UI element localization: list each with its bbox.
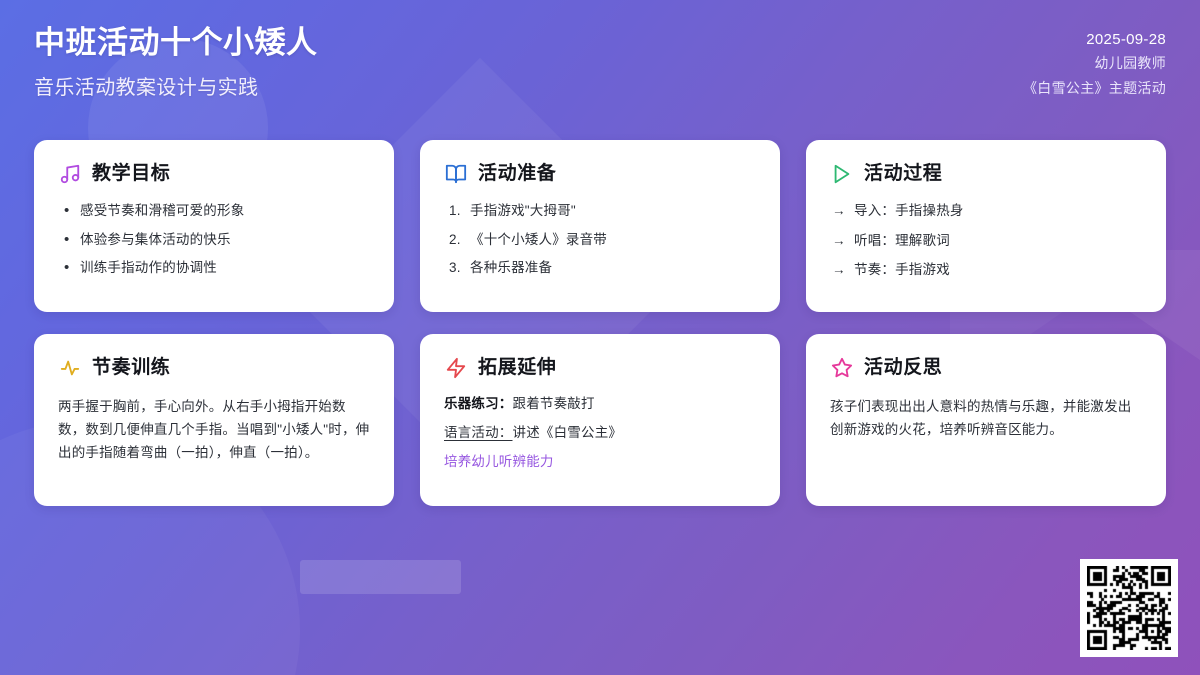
open-book-icon [444,162,467,185]
card-header: 拓展延伸 [444,356,756,379]
placeholder-bar [300,560,461,594]
card-title: 教学目标 [92,164,170,183]
title-block: 中班活动十个小矮人 音乐活动教案设计与实践 [34,24,318,100]
card-header: 教学目标 [58,162,370,185]
card-header: 活动准备 [444,162,756,185]
list-item: 听唱：理解歌词 [832,231,1142,251]
list-item: 各种乐器准备 [448,258,756,278]
page-title: 中班活动十个小矮人 [34,24,318,63]
card-paragraph: 两手握于胸前，手心向外。从右手小拇指开始数数，数到几便伸直几个手指。当唱到"小矮… [58,395,370,465]
star-icon [830,356,853,379]
extension-line: 乐器练习：跟着节奏敲打 [444,395,756,414]
extension-line: 语言活动：讲述《白雪公主》 [444,424,756,443]
card-title: 节奏训练 [92,358,170,377]
card-title: 活动准备 [478,164,556,183]
list-item: 训练手指动作的协调性 [62,258,370,278]
card-activity-preparation: 活动准备手指游戏"大拇哥"《十个小矮人》录音带各种乐器准备 [420,140,780,312]
card-activity-reflection: 活动反思孩子们表现出出人意料的热情与乐趣，并能激发出创新游戏的火花，培养听辨音区… [806,334,1166,506]
pulse-icon [58,356,81,379]
music-note-icon [58,162,81,185]
card-extension-list: 乐器练习：跟着节奏敲打语言活动：讲述《白雪公主》培养幼儿听辨能力 [444,395,756,472]
extension-text: 讲述《白雪公主》 [513,425,623,440]
list-item: 体验参与集体活动的快乐 [62,230,370,250]
card-rhythm-training: 节奏训练两手握于胸前，手心向外。从右手小拇指开始数数，数到几便伸直几个手指。当唱… [34,334,394,506]
extension-label: 语言活动： [444,425,513,440]
card-title: 活动反思 [864,358,942,377]
card-list: 手指游戏"大拇哥"《十个小矮人》录音带各种乐器准备 [444,201,756,278]
list-item: 感受节奏和滑稽可爱的形象 [62,201,370,221]
card-teaching-goals: 教学目标感受节奏和滑稽可爱的形象体验参与集体活动的快乐训练手指动作的协调性 [34,140,394,312]
slide-header: 中班活动十个小矮人 音乐活动教案设计与实践 2025-09-28 幼儿园教师 《… [0,0,1200,122]
card-activity-process: 活动过程导入：手指操热身听唱：理解歌词节奏：手指游戏 [806,140,1166,312]
card-list: 导入：手指操热身听唱：理解歌词节奏：手指游戏 [830,201,1142,280]
card-title: 活动过程 [864,164,942,183]
card-header: 活动反思 [830,356,1142,379]
list-item: 手指游戏"大拇哥" [448,201,756,221]
qr-code[interactable] [1080,559,1178,657]
list-item: 《十个小矮人》录音带 [448,230,756,250]
qr-code-image [1087,566,1171,650]
slide-root: 中班活动十个小矮人 音乐活动教案设计与实践 2025-09-28 幼儿园教师 《… [0,0,1200,675]
list-item: 节奏：手指游戏 [832,260,1142,280]
header-meta: 2025-09-28 幼儿园教师 《白雪公主》主题活动 [1023,24,1166,98]
card-grid: 教学目标感受节奏和滑稽可爱的形象体验参与集体活动的快乐训练手指动作的协调性活动准… [34,140,1166,506]
card-list: 感受节奏和滑稽可爱的形象体验参与集体活动的快乐训练手指动作的协调性 [58,201,370,278]
header-theme: 《白雪公主》主题活动 [1023,78,1166,98]
header-date: 2025-09-28 [1086,31,1166,48]
card-extension: 拓展延伸乐器练习：跟着节奏敲打语言活动：讲述《白雪公主》培养幼儿听辨能力 [420,334,780,506]
play-triangle-icon [830,162,853,185]
page-subtitle: 音乐活动教案设计与实践 [34,71,318,100]
header-role: 幼儿园教师 [1095,53,1167,73]
extension-line: 培养幼儿听辨能力 [444,453,756,472]
extension-text: 培养幼儿听辨能力 [444,454,554,469]
card-title: 拓展延伸 [478,358,556,377]
extension-text: 跟着节奏敲打 [513,396,595,411]
card-paragraph: 孩子们表现出出人意料的热情与乐趣，并能激发出创新游戏的火花，培养听辨音区能力。 [830,395,1142,441]
card-header: 活动过程 [830,162,1142,185]
card-header: 节奏训练 [58,356,370,379]
extension-label: 乐器练习： [444,396,513,411]
list-item: 导入：手指操热身 [832,201,1142,221]
lightning-bolt-icon [444,356,467,379]
